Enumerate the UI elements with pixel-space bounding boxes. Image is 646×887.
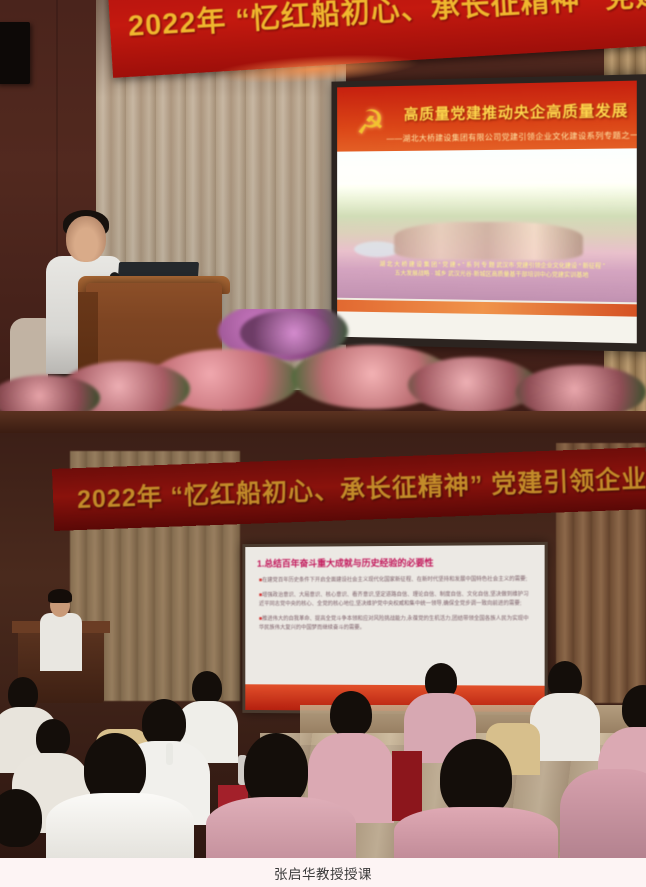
slide-photo-caption: 湖 北 大 桥 建 设 集 团 “ 党 建 + ” 系 列 专 题 武汉市·党建… bbox=[377, 261, 608, 281]
presenter-body bbox=[40, 613, 82, 671]
audience-member bbox=[206, 797, 356, 858]
slide-body: ■在建党百年历史条件下开启全面建设社会主义现代化国家新征程、在新时代坚持和发展中… bbox=[259, 575, 532, 633]
stage-ledge bbox=[0, 411, 646, 433]
slide-title: 高质量党建推动央企高质量发展 bbox=[404, 99, 627, 124]
image-page: ☭ 高质量党建推动央企高质量发展 ——湖北大桥建设集团有限公司党建引领企业文化建… bbox=[0, 0, 646, 887]
audience-member bbox=[142, 699, 186, 747]
speaker-at-podium-photo: ☭ 高质量党建推动央企高质量发展 ——湖北大桥建设集团有限公司党建引领企业文化建… bbox=[0, 0, 646, 433]
audience-member bbox=[8, 677, 38, 711]
slide-bullet-2: 增强政治意识、大局意识、核心意识、看齐意识,坚定道路自信、理论自信、制度自信、文… bbox=[259, 592, 529, 608]
audience-member bbox=[560, 769, 646, 858]
aerial-lake bbox=[354, 241, 400, 257]
party-emblem-icon: ☭ bbox=[350, 102, 390, 144]
audience-member bbox=[46, 793, 194, 858]
audience-member bbox=[192, 671, 222, 705]
projection-screen: 1.总结百年奋斗重大成就与历史经验的必要性 ■在建党百年历史条件下开启全面建设社… bbox=[242, 542, 547, 715]
caption-text: 张启华教授授课 bbox=[274, 863, 372, 883]
slide-title: 1.总结百年奋斗重大成就与历史经验的必要性 bbox=[257, 555, 536, 570]
audience-member bbox=[394, 807, 558, 858]
audience-member bbox=[440, 739, 512, 817]
aerial-town bbox=[394, 222, 583, 261]
presenter-head bbox=[66, 216, 106, 262]
image-caption: 张启华教授授课 bbox=[0, 858, 646, 887]
stage-flowers bbox=[0, 309, 646, 419]
event-banner-top-text: 2022年 “忆红船初心、承长征精神” 党建引领企业 bbox=[127, 0, 646, 45]
loudspeaker bbox=[0, 22, 30, 84]
water-bottle bbox=[166, 743, 173, 765]
slide-bullet-1: 在建党百年历史条件下开启全面建设社会主义现代化国家新征程、在新时代坚持和发展中国… bbox=[262, 576, 527, 583]
audience-member bbox=[36, 719, 70, 757]
chair bbox=[392, 751, 422, 821]
audience-member bbox=[330, 691, 372, 737]
audience-member bbox=[530, 693, 600, 761]
presentation-slide: ☭ 高质量党建推动央企高质量发展 ——湖北大桥建设集团有限公司党建引领企业文化建… bbox=[337, 81, 637, 344]
slide-bullet-3: 推进伟大的自我革命、提高全党斗争本领和应对风险挑战能力,永葆党的生机活力,团结带… bbox=[259, 616, 529, 631]
audience-hall-photo: 1.总结百年奋斗重大成就与历史经验的必要性 ■在建党百年历史条件下开启全面建设社… bbox=[0, 433, 646, 858]
slide-aerial-photo: 湖 北 大 桥 建 设 集 团 “ 党 建 + ” 系 列 专 题 武汉市·党建… bbox=[337, 148, 637, 302]
audience-member bbox=[244, 733, 308, 807]
presenter-hair bbox=[48, 589, 72, 603]
